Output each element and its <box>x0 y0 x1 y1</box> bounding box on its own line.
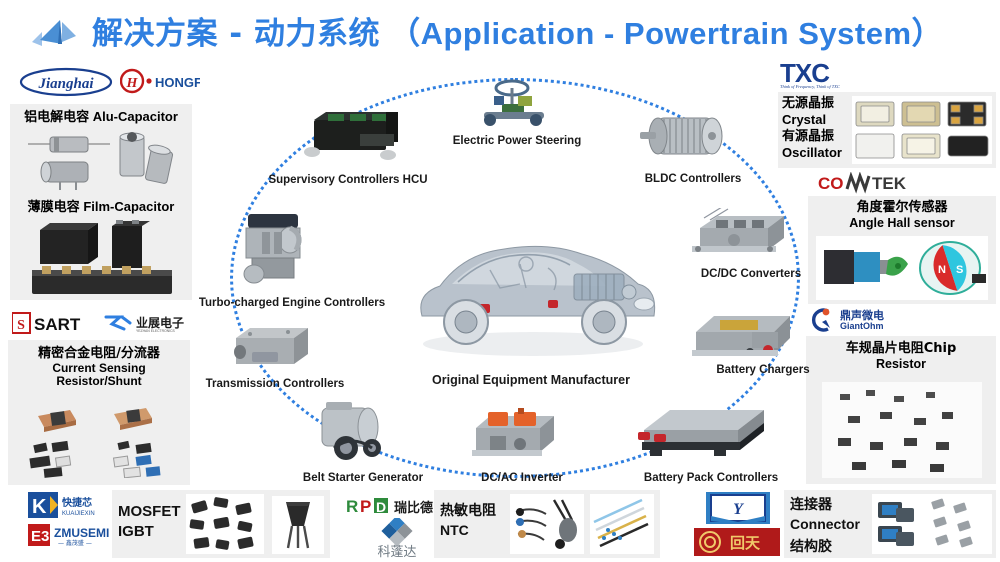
mosfet-igbt-panel: MOSFET IGBT <box>112 490 330 558</box>
shunt-resistor-image <box>18 400 180 478</box>
svg-text:Jianghai: Jianghai <box>37 76 94 92</box>
node-label-turbo-engine-controllers: Turbo-charged Engine Controllers <box>182 297 402 309</box>
chip-resistor-image <box>822 382 982 478</box>
node-label-belt-starter-generator: Belt Starter Generator <box>288 472 438 484</box>
igbt-label: IGBT <box>118 522 181 542</box>
shunt-caption: 精密合金电阻/分流器 Current Sensing Resistor/Shun… <box>8 347 190 388</box>
hall-sensor-caption: 角度霍尔传感器 Angle Hall sensor <box>808 201 996 230</box>
crystal-panel: 无源晶振 Crystal 有源晶振 Oscillator <box>778 92 996 168</box>
crystal-caption-en: Crystal <box>782 112 848 128</box>
svg-text:— 鑫茂盛 —: — 鑫茂盛 — <box>58 539 92 547</box>
svg-text:ZMUSEMI: ZMUSEMI <box>54 526 109 540</box>
node-image-oem-car <box>398 212 668 362</box>
ntc-label: 热敏电阻 NTC <box>440 502 496 540</box>
txc-logo-icon: TXC Think of Frequency, Think of TXC <box>778 58 898 90</box>
txc-brandbar: TXC Think of Frequency, Think of TXC <box>778 58 898 90</box>
mosfet-igbt-label: MOSFET IGBT <box>118 502 181 541</box>
svg-text:Y: Y <box>733 501 744 518</box>
svg-text:R: R <box>346 497 358 516</box>
conntek-brandbar: CO TEK <box>818 172 948 194</box>
capacitor-panel: 铝电解电容 Alu-Capacitor <box>10 104 192 300</box>
node-image-dcdc-converter <box>690 208 794 264</box>
kepengda-logo-icon: 科蓬达 <box>362 518 432 560</box>
hall-sensor-image: N S <box>816 236 988 300</box>
alu-capacitor-caption: 铝电解电容 Alu-Capacitor <box>10 110 192 126</box>
svg-text:瑞比德: 瑞比德 <box>394 500 433 516</box>
hall-sensor-panel: 角度霍尔传感器 Angle Hall sensor N S <box>808 196 996 304</box>
giantohm-brandbar: 鼎声微电 GiantOhm <box>806 306 936 332</box>
svg-text:P: P <box>360 497 371 516</box>
jianghai-logo-icon: Jianghai <box>18 67 114 97</box>
alu-capacitor-caption-en: Alu-Capacitor <box>93 109 178 124</box>
svg-text:HONGFA: HONGFA <box>155 75 200 90</box>
film-capacitor-caption-en: Film-Capacitor <box>83 199 174 214</box>
node-image-bldc-motor <box>638 110 728 166</box>
mosfet-package-image <box>186 494 264 554</box>
node-label-battery-chargers: Battery Chargers <box>698 364 828 376</box>
node-image-turbo-engine <box>232 208 318 290</box>
shunt-caption-en2: Resistor/Shunt <box>8 375 190 388</box>
triangle-arrow-logo-icon <box>28 16 84 50</box>
hall-sensor-caption-cn: 角度霍尔传感器 <box>808 201 996 216</box>
zmusemi-logo-icon: E3 ZMUSEMI — 鑫茂盛 — <box>28 522 118 548</box>
svg-text:鼎声微电: 鼎声微电 <box>840 308 884 322</box>
sart-logo-icon: S SART <box>12 312 98 334</box>
slide-header: 解决方案 - 动力系统 （Application - Powertrain Sy… <box>0 0 1000 62</box>
node-image-ecu-module <box>300 108 400 164</box>
node-label-transmission-controllers: Transmission Controllers <box>190 378 360 390</box>
crystal-products-image <box>852 96 992 164</box>
svg-text:E3: E3 <box>31 528 49 545</box>
node-image-transmission-ecu <box>228 322 314 372</box>
oscillator-caption-en: Oscillator <box>782 145 848 161</box>
connector-caption-cn: 连接器 <box>790 496 860 515</box>
page-title-cn: 解决方案 - 动力系统 <box>92 16 380 52</box>
svg-text:业展电子: 业展电子 <box>136 315 184 330</box>
hongfa-logo-icon: H HONGFA <box>120 68 200 94</box>
svg-text:TEK: TEK <box>872 174 907 193</box>
connector-caption-en: Connector <box>790 515 860 534</box>
giantohm-logo-icon: 鼎声微电 GiantOhm <box>806 306 936 332</box>
svg-text:Think of Frequency, Think of T: Think of Frequency, Think of TXC <box>780 84 840 90</box>
yezhan-logo-icon: 业展电子 YEZHAN ELECTRONICS <box>104 313 196 333</box>
bridge-rectifier-image <box>272 496 324 554</box>
film-capacitor-image <box>26 220 182 296</box>
page-title: 解决方案 - 动力系统 （Application - Powertrain Sy… <box>92 8 943 53</box>
connector-caption: 连接器 Connector <box>790 496 860 534</box>
shunt-caption-cn: 精密合金电阻/分流器 <box>8 347 190 362</box>
svg-text:N: N <box>938 264 946 276</box>
svg-text:K: K <box>32 496 47 518</box>
rpd-logo-icon: R P D 瑞比德 <box>346 494 442 518</box>
ntc-label-en: NTC <box>440 521 496 540</box>
connector-panel: 连接器 Connector 结构胶 <box>784 490 996 558</box>
crystal-captions: 无源晶振 Crystal 有源晶振 Oscillator <box>782 96 848 161</box>
svg-text:KUAIJIEXIN: KUAIJIEXIN <box>62 511 95 517</box>
ntc-wire-image <box>590 494 654 554</box>
resistor-shunt-panel: 精密合金电阻/分流器 Current Sensing Resistor/Shun… <box>8 340 190 485</box>
shunt-caption-en1: Current Sensing <box>8 362 190 375</box>
ntc-panel: 热敏电阻 NTC <box>434 490 660 558</box>
ntc-label-cn: 热敏电阻 <box>440 502 496 521</box>
chip-resistor-caption-cn: 车规晶片电阻Chip <box>806 342 996 357</box>
node-label-supervisory-controllers: Supervisory Controllers HCU <box>258 174 438 186</box>
svg-text:YEZHAN ELECTRONICS: YEZHAN ELECTRONICS <box>136 329 176 333</box>
ntc-sensor-image <box>510 494 584 554</box>
conntek-logo-icon: CO TEK <box>818 172 948 194</box>
svg-text:CO: CO <box>818 174 844 193</box>
adhesive-caption-cn: 结构胶 <box>790 536 832 556</box>
node-label-bldc-controllers: BLDC Controllers <box>628 173 758 185</box>
chip-resistor-panel: 车规晶片电阻Chip Resistor <box>806 336 996 484</box>
node-label-dcdc-converters: DC/DC Converters <box>676 268 826 280</box>
alu-capacitor-caption-cn: 铝电解电容 <box>24 110 89 125</box>
svg-text:SART: SART <box>34 315 81 334</box>
node-image-belt-starter <box>310 398 402 462</box>
page-title-en: （Application - Powertrain System） <box>389 16 943 51</box>
hall-sensor-caption-en: Angle Hall sensor <box>808 216 996 230</box>
node-label-battery-pack-controllers: Battery Pack Controllers <box>626 472 796 484</box>
svg-text:D: D <box>376 499 386 515</box>
node-image-battery-pack <box>636 400 772 464</box>
node-label-oem: Original Equipment Manufacturer <box>406 373 656 387</box>
node-label-dcac-inverter: DC/AC Inverter <box>462 472 582 484</box>
svg-text:快捷芯: 快捷芯 <box>61 496 92 509</box>
huitian-logo-icon: 回天 <box>694 528 780 556</box>
node-image-steering-assembly <box>478 76 552 134</box>
node-label-electric-power-steering: Electric Power Steering <box>432 135 602 147</box>
slide-canvas: 解决方案 - 动力系统 （Application - Powertrain Sy… <box>0 0 1000 562</box>
svg-text:S: S <box>956 264 963 276</box>
node-image-battery-charger <box>690 306 802 366</box>
svg-text:GiantOhm: GiantOhm <box>840 321 884 331</box>
film-capacitor-caption: 薄膜电容 Film-Capacitor <box>10 200 192 216</box>
crystal-caption-cn: 无源晶振 <box>782 96 848 112</box>
kuaijiexin-logo-icon: K 快捷芯 KUAIJIEXIN <box>28 492 114 518</box>
alu-capacitor-image <box>24 130 184 192</box>
chip-resistor-caption-en: Resistor <box>806 357 996 371</box>
film-capacitor-caption-cn: 薄膜电容 <box>28 200 80 215</box>
connector-products-image <box>872 494 992 554</box>
svg-text:S: S <box>17 318 25 333</box>
yonggui-logo-icon: Y <box>706 492 770 524</box>
capacitor-brandbar: Jianghai H HONGFA <box>10 62 200 102</box>
svg-text:科蓬达: 科蓬达 <box>377 545 416 560</box>
svg-text:H: H <box>126 76 139 91</box>
oscillator-caption-cn: 有源晶振 <box>782 129 848 145</box>
svg-text:回天: 回天 <box>730 534 761 552</box>
chip-resistor-caption: 车规晶片电阻Chip Resistor <box>806 342 996 371</box>
mosfet-label: MOSFET <box>118 502 181 522</box>
node-image-dcac-inverter <box>468 406 568 464</box>
shunt-brandbar: S SART 业展电子 YEZHAN ELECTRONICS <box>8 310 198 336</box>
